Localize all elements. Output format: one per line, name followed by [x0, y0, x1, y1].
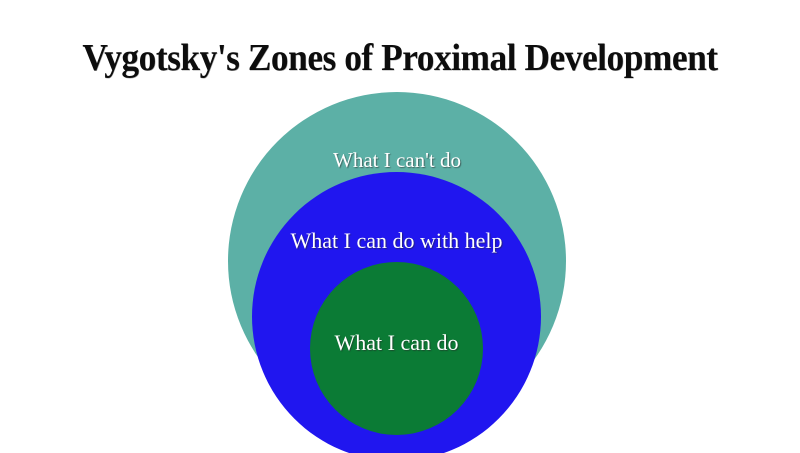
- slide-canvas: Vygotsky's Zones of Proximal Development…: [0, 0, 800, 453]
- zone-label-outer: What I can't do: [228, 148, 566, 172]
- zpd-diagram: What I can't do What I can do with help …: [0, 0, 800, 453]
- zone-label-middle: What I can do with help: [252, 228, 541, 253]
- zone-label-inner: What I can do: [310, 330, 483, 355]
- zone-circle-inner: What I can do: [310, 262, 483, 435]
